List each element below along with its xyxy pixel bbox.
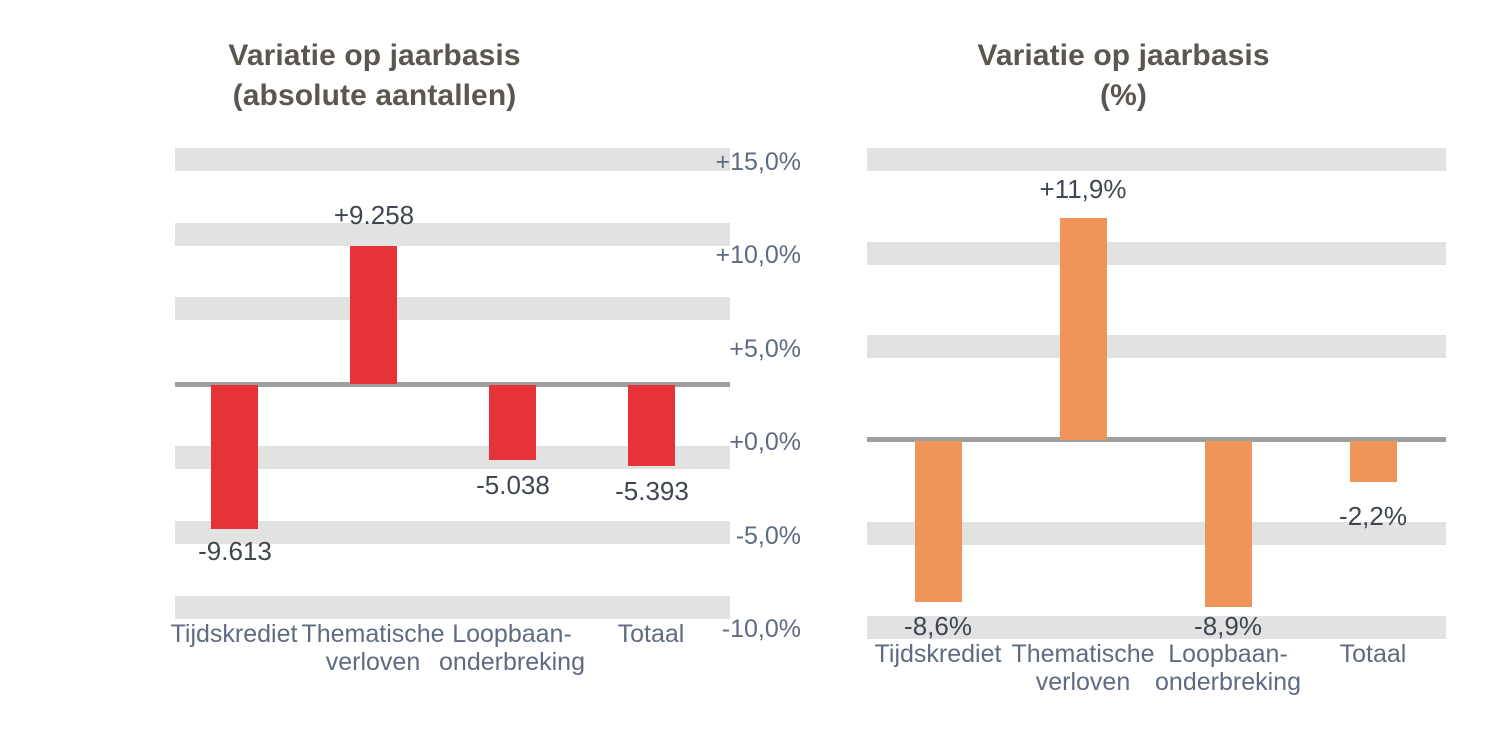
category-label-absolute-loopbaanonderbreking: Loopbaan- onderbreking	[432, 620, 592, 677]
bar-absolute-loopbaanonderbreking	[489, 385, 536, 460]
y-tick-label-pct-minus10: -10,0%	[641, 617, 801, 642]
y-tick-label-pct-5: +5,0%	[641, 337, 801, 362]
plot-area-percent: -8,6% +11,9% -8,9% -2,2% Tijdskrediet Th…	[867, 140, 1446, 615]
y-tick-label-pct-0: +0,0%	[641, 430, 801, 455]
value-label-absolute-totaal: -5.393	[577, 478, 727, 504]
bar-percent-tijdskrediet	[915, 441, 962, 602]
y-tick-label-pct-10: +10,0%	[641, 243, 801, 268]
gridline-band-abs-5000	[175, 297, 730, 320]
value-label-percent-thematische-verloven: +11,9%	[1008, 176, 1158, 202]
value-label-absolute-tijdskrediet: -9.613	[160, 538, 310, 564]
bar-percent-totaal	[1350, 441, 1397, 482]
category-label-percent-thematische-verloven: Thematische verloven	[1003, 640, 1163, 697]
category-label-percent-tijdskrediet: Tijdskrediet	[858, 640, 1018, 668]
bar-absolute-thematische-verloven	[350, 246, 397, 384]
bar-percent-loopbaanonderbreking	[1205, 441, 1252, 607]
dual-bar-chart-figure: Variatie op jaarbasis (absolute aantalle…	[0, 0, 1498, 737]
chart-title-absolute: Variatie op jaarbasis (absolute aantalle…	[0, 36, 749, 115]
y-tick-label-pct-minus5: -5,0%	[641, 524, 801, 549]
category-label-absolute-tijdskrediet: Tijdskrediet	[154, 620, 314, 648]
chart-panel-absolute: Variatie op jaarbasis (absolute aantalle…	[0, 0, 749, 737]
gridline-band-abs-minus15000	[175, 596, 730, 619]
value-label-percent-tijdskrediet: -8,6%	[863, 613, 1013, 639]
chart-panel-percent: Variatie op jaarbasis (%) +15,0% +10,0% …	[749, 0, 1498, 737]
y-tick-label-pct-15: +15,0%	[641, 150, 801, 175]
value-label-percent-loopbaanonderbreking: -8,9%	[1153, 613, 1303, 639]
value-label-absolute-loopbaanonderbreking: -5.038	[438, 472, 588, 498]
gridline-band-pct-15	[867, 148, 1446, 171]
value-label-percent-totaal: -2,2%	[1298, 503, 1448, 529]
category-label-percent-totaal: Totaal	[1293, 640, 1453, 668]
bar-percent-thematische-verloven	[1060, 218, 1107, 440]
chart-title-percent: Variatie op jaarbasis (%)	[749, 36, 1498, 115]
category-label-percent-loopbaanonderbreking: Loopbaan- onderbreking	[1148, 640, 1308, 697]
gridline-band-pct-5	[867, 335, 1446, 358]
gridline-band-pct-10	[867, 242, 1446, 265]
bar-absolute-tijdskrediet	[211, 385, 258, 529]
value-label-absolute-thematische-verloven: +9.258	[299, 202, 449, 228]
category-label-absolute-thematische-verloven: Thematische verloven	[293, 620, 453, 677]
